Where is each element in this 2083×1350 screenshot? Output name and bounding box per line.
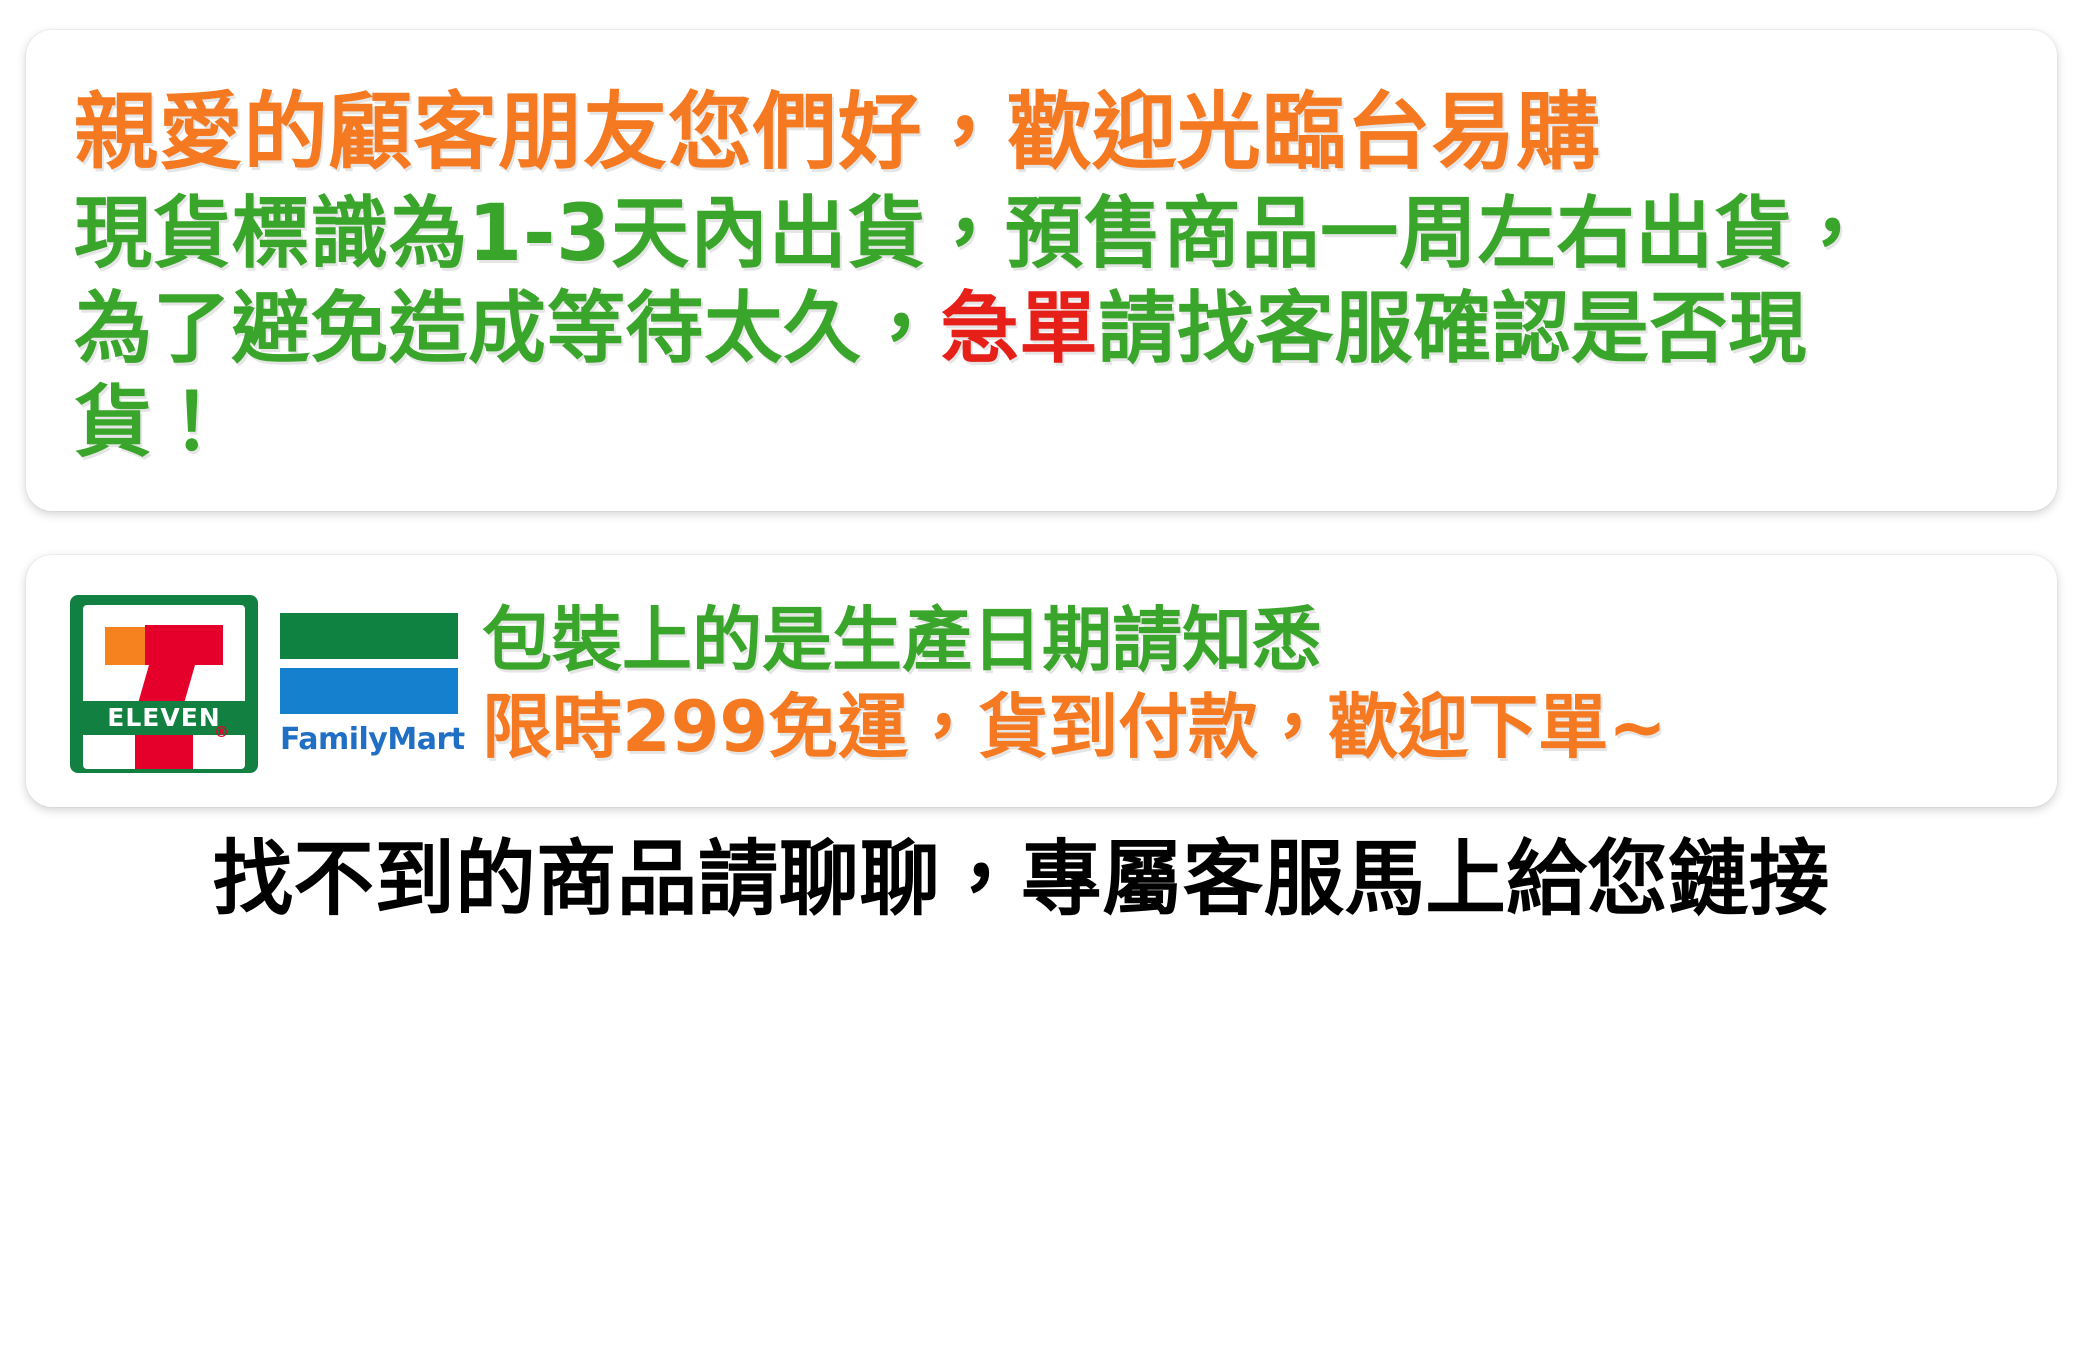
family-mart-wordmark: FamilyMart [280, 725, 458, 755]
seven-eleven-logo-inner: ELEVEN ® [83, 605, 245, 769]
customer-service-footer: 找不到的商品請聊聊，專屬客服馬上給您鏈接 [26, 829, 2016, 925]
notice-card: 親愛的顧客朋友您們好，歡迎光臨台易購 現貨標識為1-3天內出貨，預售商品一周左右… [26, 30, 2057, 511]
shipping-info-card: ELEVEN ® FamilyMart 包裝上的是生產日期請知悉 限時299免運… [26, 555, 2057, 807]
urgent-order-highlight: 急單 [941, 284, 1099, 374]
urgent-order-line: 為了避免造成等待太久，急單請找客服確認是否現 [74, 288, 2009, 371]
family-mart-blue-bar-shape [280, 668, 458, 714]
urgent-order-text-before: 為了避免造成等待太久， [74, 284, 941, 374]
registered-trademark-icon: ® [214, 723, 229, 741]
family-mart-logo-icon: FamilyMart [280, 613, 458, 755]
welcome-headline: 親愛的顧客朋友您們好，歡迎光臨台易購 [74, 88, 2009, 177]
family-mart-green-bar-shape [280, 613, 458, 659]
urgent-order-text-after: 請找客服確認是否現 [1098, 284, 1807, 374]
promo-banner-page: 親愛的顧客朋友您們好，歡迎光臨台易購 現貨標識為1-3天內出貨，預售商品一周左右… [0, 0, 2083, 1350]
shipping-text-block: 包裝上的是生產日期請知悉 限時299免運，貨到付款，歡迎下單~ [482, 604, 1667, 765]
seven-eleven-logo-icon: ELEVEN ® [70, 595, 258, 773]
free-shipping-notice: 限時299免運，貨到付款，歡迎下單~ [482, 691, 1667, 765]
stock-shipping-line: 現貨標識為1-3天內出貨，預售商品一周左右出貨， [74, 193, 2009, 276]
convenience-store-logos: ELEVEN ® FamilyMart [70, 595, 458, 773]
stock-confirm-line-end: 貨！ [74, 382, 2009, 465]
production-date-notice: 包裝上的是生產日期請知悉 [482, 604, 1667, 678]
